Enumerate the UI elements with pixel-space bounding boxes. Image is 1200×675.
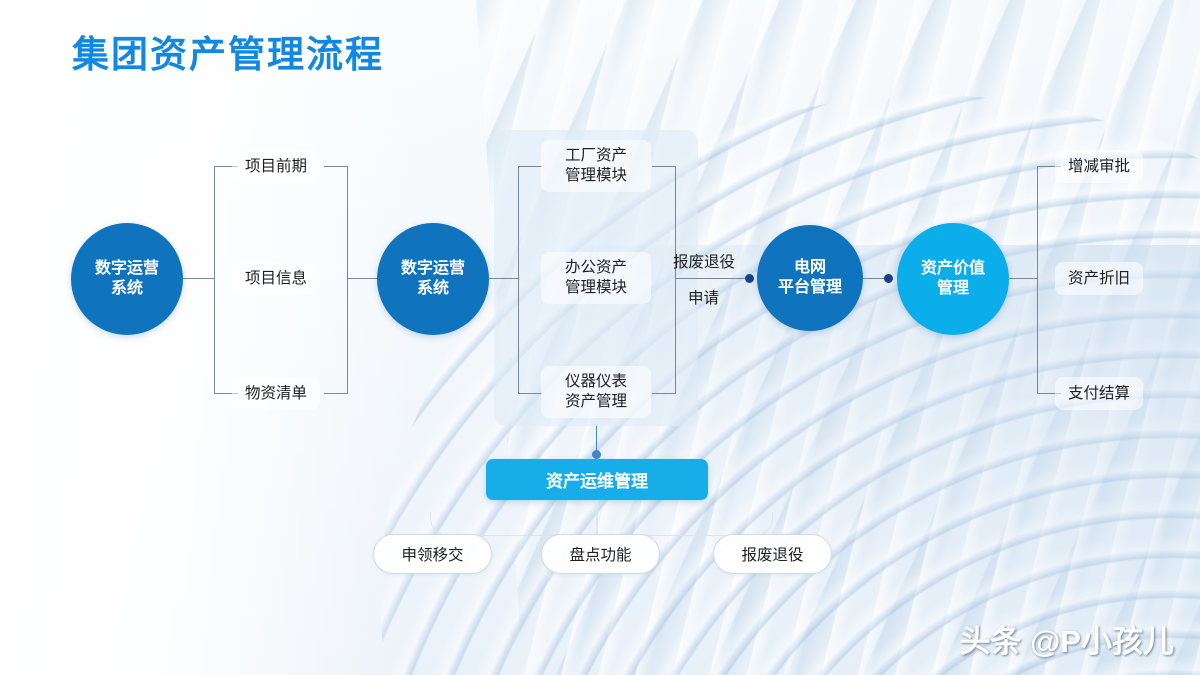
bracket-right-top-group2	[652, 166, 676, 167]
ops-connector-right	[596, 512, 773, 536]
ops-child-1[interactable]: 申领移交	[373, 534, 492, 574]
bracket-left-spine-group1	[214, 166, 215, 394]
group3-item-2[interactable]: 资产折旧	[1055, 262, 1143, 295]
connector-dot-right-stage3	[884, 274, 893, 283]
bracket-right-top-group1	[324, 166, 348, 167]
edge-label-scrap-line2: 申请	[688, 286, 719, 308]
bracket-right-spine-group2	[675, 166, 676, 394]
connector-group2-to-stage3	[675, 278, 750, 279]
watermark: 头条 @P小孩儿	[959, 616, 1174, 661]
edge-label-scrap-line1: 报废退役	[673, 250, 735, 272]
node-stage3[interactable]: 电网 平台管理	[757, 225, 863, 331]
group1-item-3[interactable]: 物资清单	[232, 377, 320, 410]
ops-child-3[interactable]: 报废退役	[713, 534, 832, 574]
slide-canvas: 集团资产管理流程 数字运营 系统 项目前期 项目信息 物资清单 数字运营 系统 …	[0, 0, 1200, 675]
connector-stage1-to-group1	[183, 278, 214, 279]
ops-connector-left	[430, 512, 598, 536]
node-stage4[interactable]: 资产价值 管理	[897, 223, 1009, 335]
group3-item-3[interactable]: 支付结算	[1055, 377, 1143, 410]
node-stage1[interactable]: 数字运营 系统	[71, 223, 183, 335]
bracket-left-spine-group2	[518, 166, 519, 394]
connector-stage4-to-group3	[1009, 278, 1038, 279]
bracket-right-bottom-group2	[652, 393, 676, 394]
connector-group1-to-stage2	[347, 278, 378, 279]
group1-item-1[interactable]: 项目前期	[232, 150, 320, 183]
ops-child-2[interactable]: 盘点功能	[541, 534, 660, 574]
node-ops-bar[interactable]: 资产运维管理	[486, 459, 708, 500]
group2-item-1[interactable]: 工厂资产 管理模块	[541, 140, 651, 192]
group2-item-3[interactable]: 仪器仪表 资产管理	[541, 366, 651, 418]
background-left-fade	[0, 0, 420, 675]
connector-stage2-to-group2	[489, 278, 519, 279]
connector-dot-left-stage3	[745, 274, 754, 283]
group2-item-2[interactable]: 办公资产 管理模块	[541, 252, 651, 304]
connector-dot-ops	[592, 450, 601, 459]
bracket-right-bottom-group1	[324, 393, 348, 394]
group3-item-1[interactable]: 增减审批	[1055, 150, 1143, 183]
bracket-left-spine-group3	[1037, 166, 1038, 394]
bracket-left-bottom-group2	[518, 393, 542, 394]
node-stage2[interactable]: 数字运营 系统	[377, 223, 489, 335]
group1-item-2[interactable]: 项目信息	[232, 262, 320, 295]
bracket-left-top-group2	[518, 166, 542, 167]
page-title: 集团资产管理流程	[72, 24, 384, 78]
bracket-right-spine-group1	[347, 166, 348, 394]
